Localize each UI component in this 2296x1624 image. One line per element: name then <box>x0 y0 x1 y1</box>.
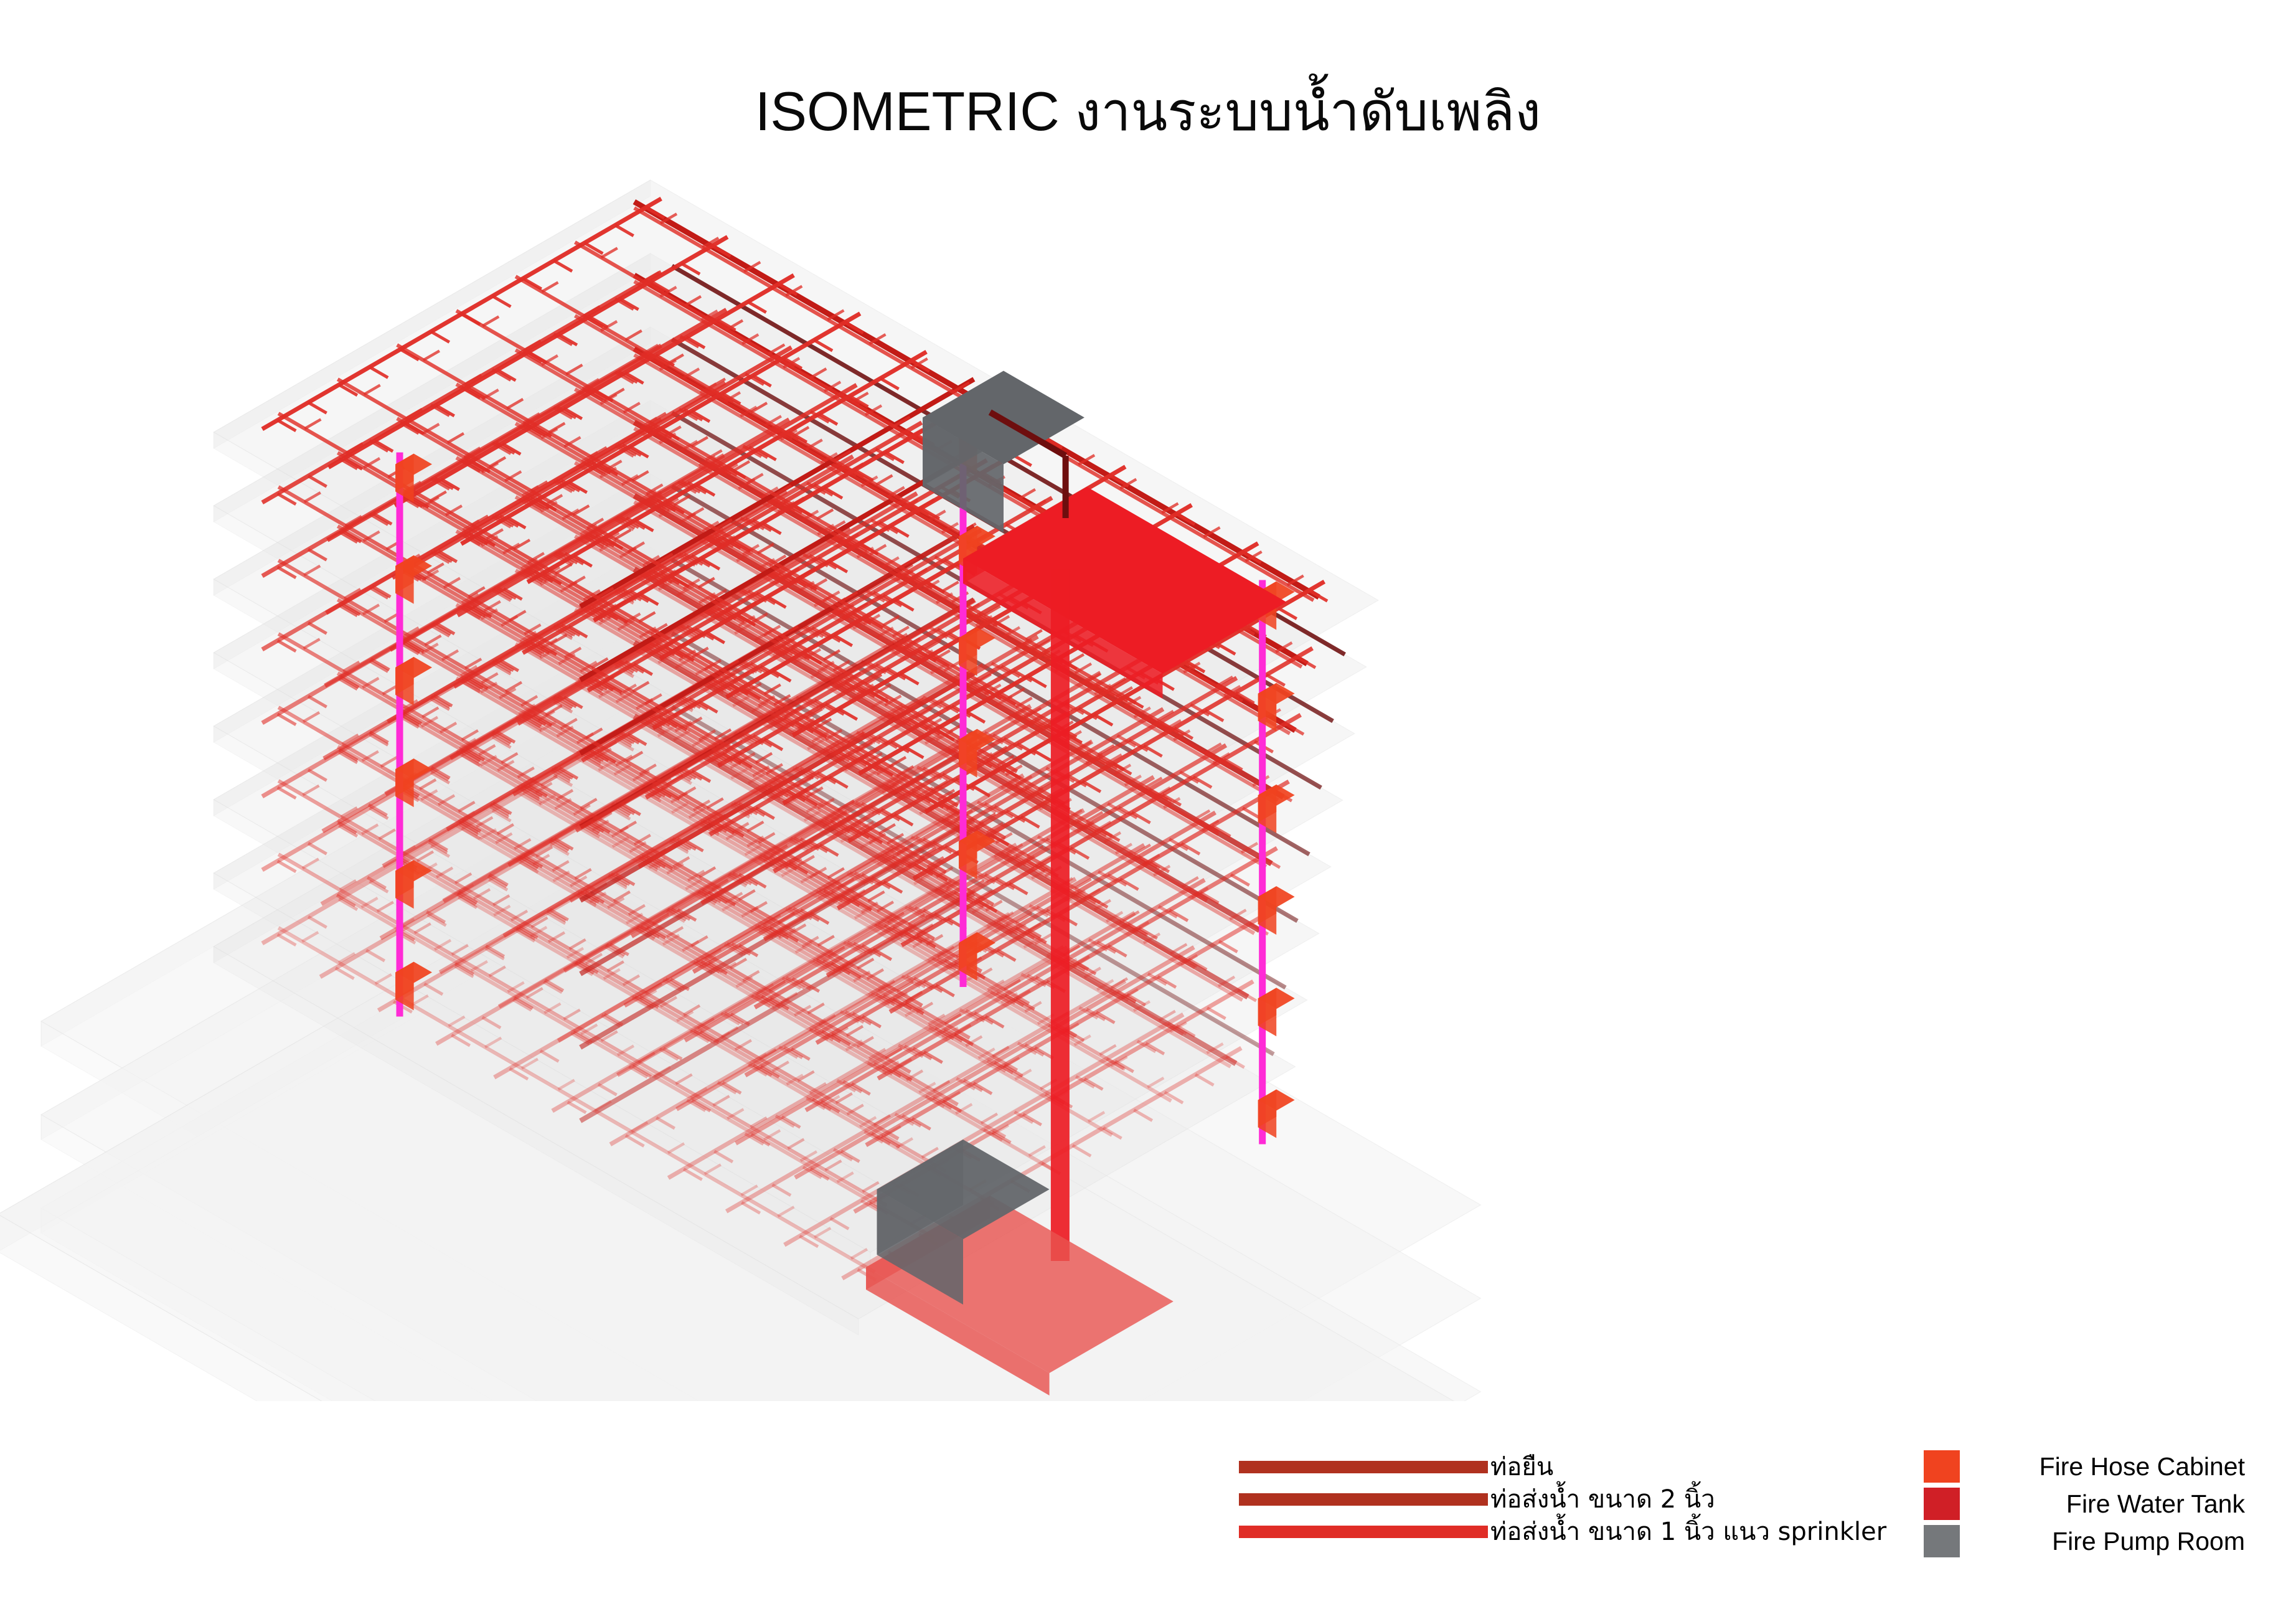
legend-row-hose-cabinet[interactable]: Fire Hose Cabinet <box>1924 1448 2247 1485</box>
drawing-sheet: ISOMETRIC งานระบบน้ำดับเพลิง ท่อยืน ท่อส… <box>0 0 2296 1624</box>
legend-label-supply-2in: ท่อส่งน้ำ ขนาด 2 นิ้ว <box>1490 1487 1715 1512</box>
legend-swatch-water-tank <box>1924 1488 1960 1520</box>
legend-row-standpipe[interactable]: ท่อยืน <box>1239 1451 1911 1483</box>
legend-label-water-tank: Fire Water Tank <box>1960 1489 2247 1519</box>
legend-label-pump-room: Fire Pump Room <box>1960 1527 2247 1556</box>
legend-row-supply-1in[interactable]: ท่อส่งน้ำ ขนาด 1 นิ้ว แนว sprinkler <box>1239 1516 1911 1548</box>
legend-row-pump-room[interactable]: Fire Pump Room <box>1924 1522 2247 1560</box>
legend-swatch-hose-cabinet <box>1924 1450 1960 1483</box>
legend-label-hose-cabinet: Fire Hose Cabinet <box>1960 1452 2247 1481</box>
legend-swatch-supply-1in <box>1239 1526 1488 1538</box>
isometric-svg <box>0 0 2296 1401</box>
legend-label-standpipe: ท่อยืน <box>1490 1455 1553 1480</box>
legend-swatch-standpipe <box>1239 1461 1488 1473</box>
legend-swatch-pump-room <box>1924 1525 1960 1557</box>
isometric-drawing <box>0 0 2296 1401</box>
legend-equipment: Fire Hose Cabinet Fire Water Tank Fire P… <box>1924 1448 2247 1560</box>
legend-row-supply-2in[interactable]: ท่อส่งน้ำ ขนาด 2 นิ้ว <box>1239 1483 1911 1516</box>
legend-pipe-types: ท่อยืน ท่อส่งน้ำ ขนาด 2 นิ้ว ท่อส่งน้ำ ข… <box>1239 1451 1911 1548</box>
legend-row-water-tank[interactable]: Fire Water Tank <box>1924 1485 2247 1522</box>
legend-swatch-supply-2in <box>1239 1493 1488 1506</box>
legend-label-supply-1in: ท่อส่งน้ำ ขนาด 1 นิ้ว แนว sprinkler <box>1490 1519 1886 1544</box>
